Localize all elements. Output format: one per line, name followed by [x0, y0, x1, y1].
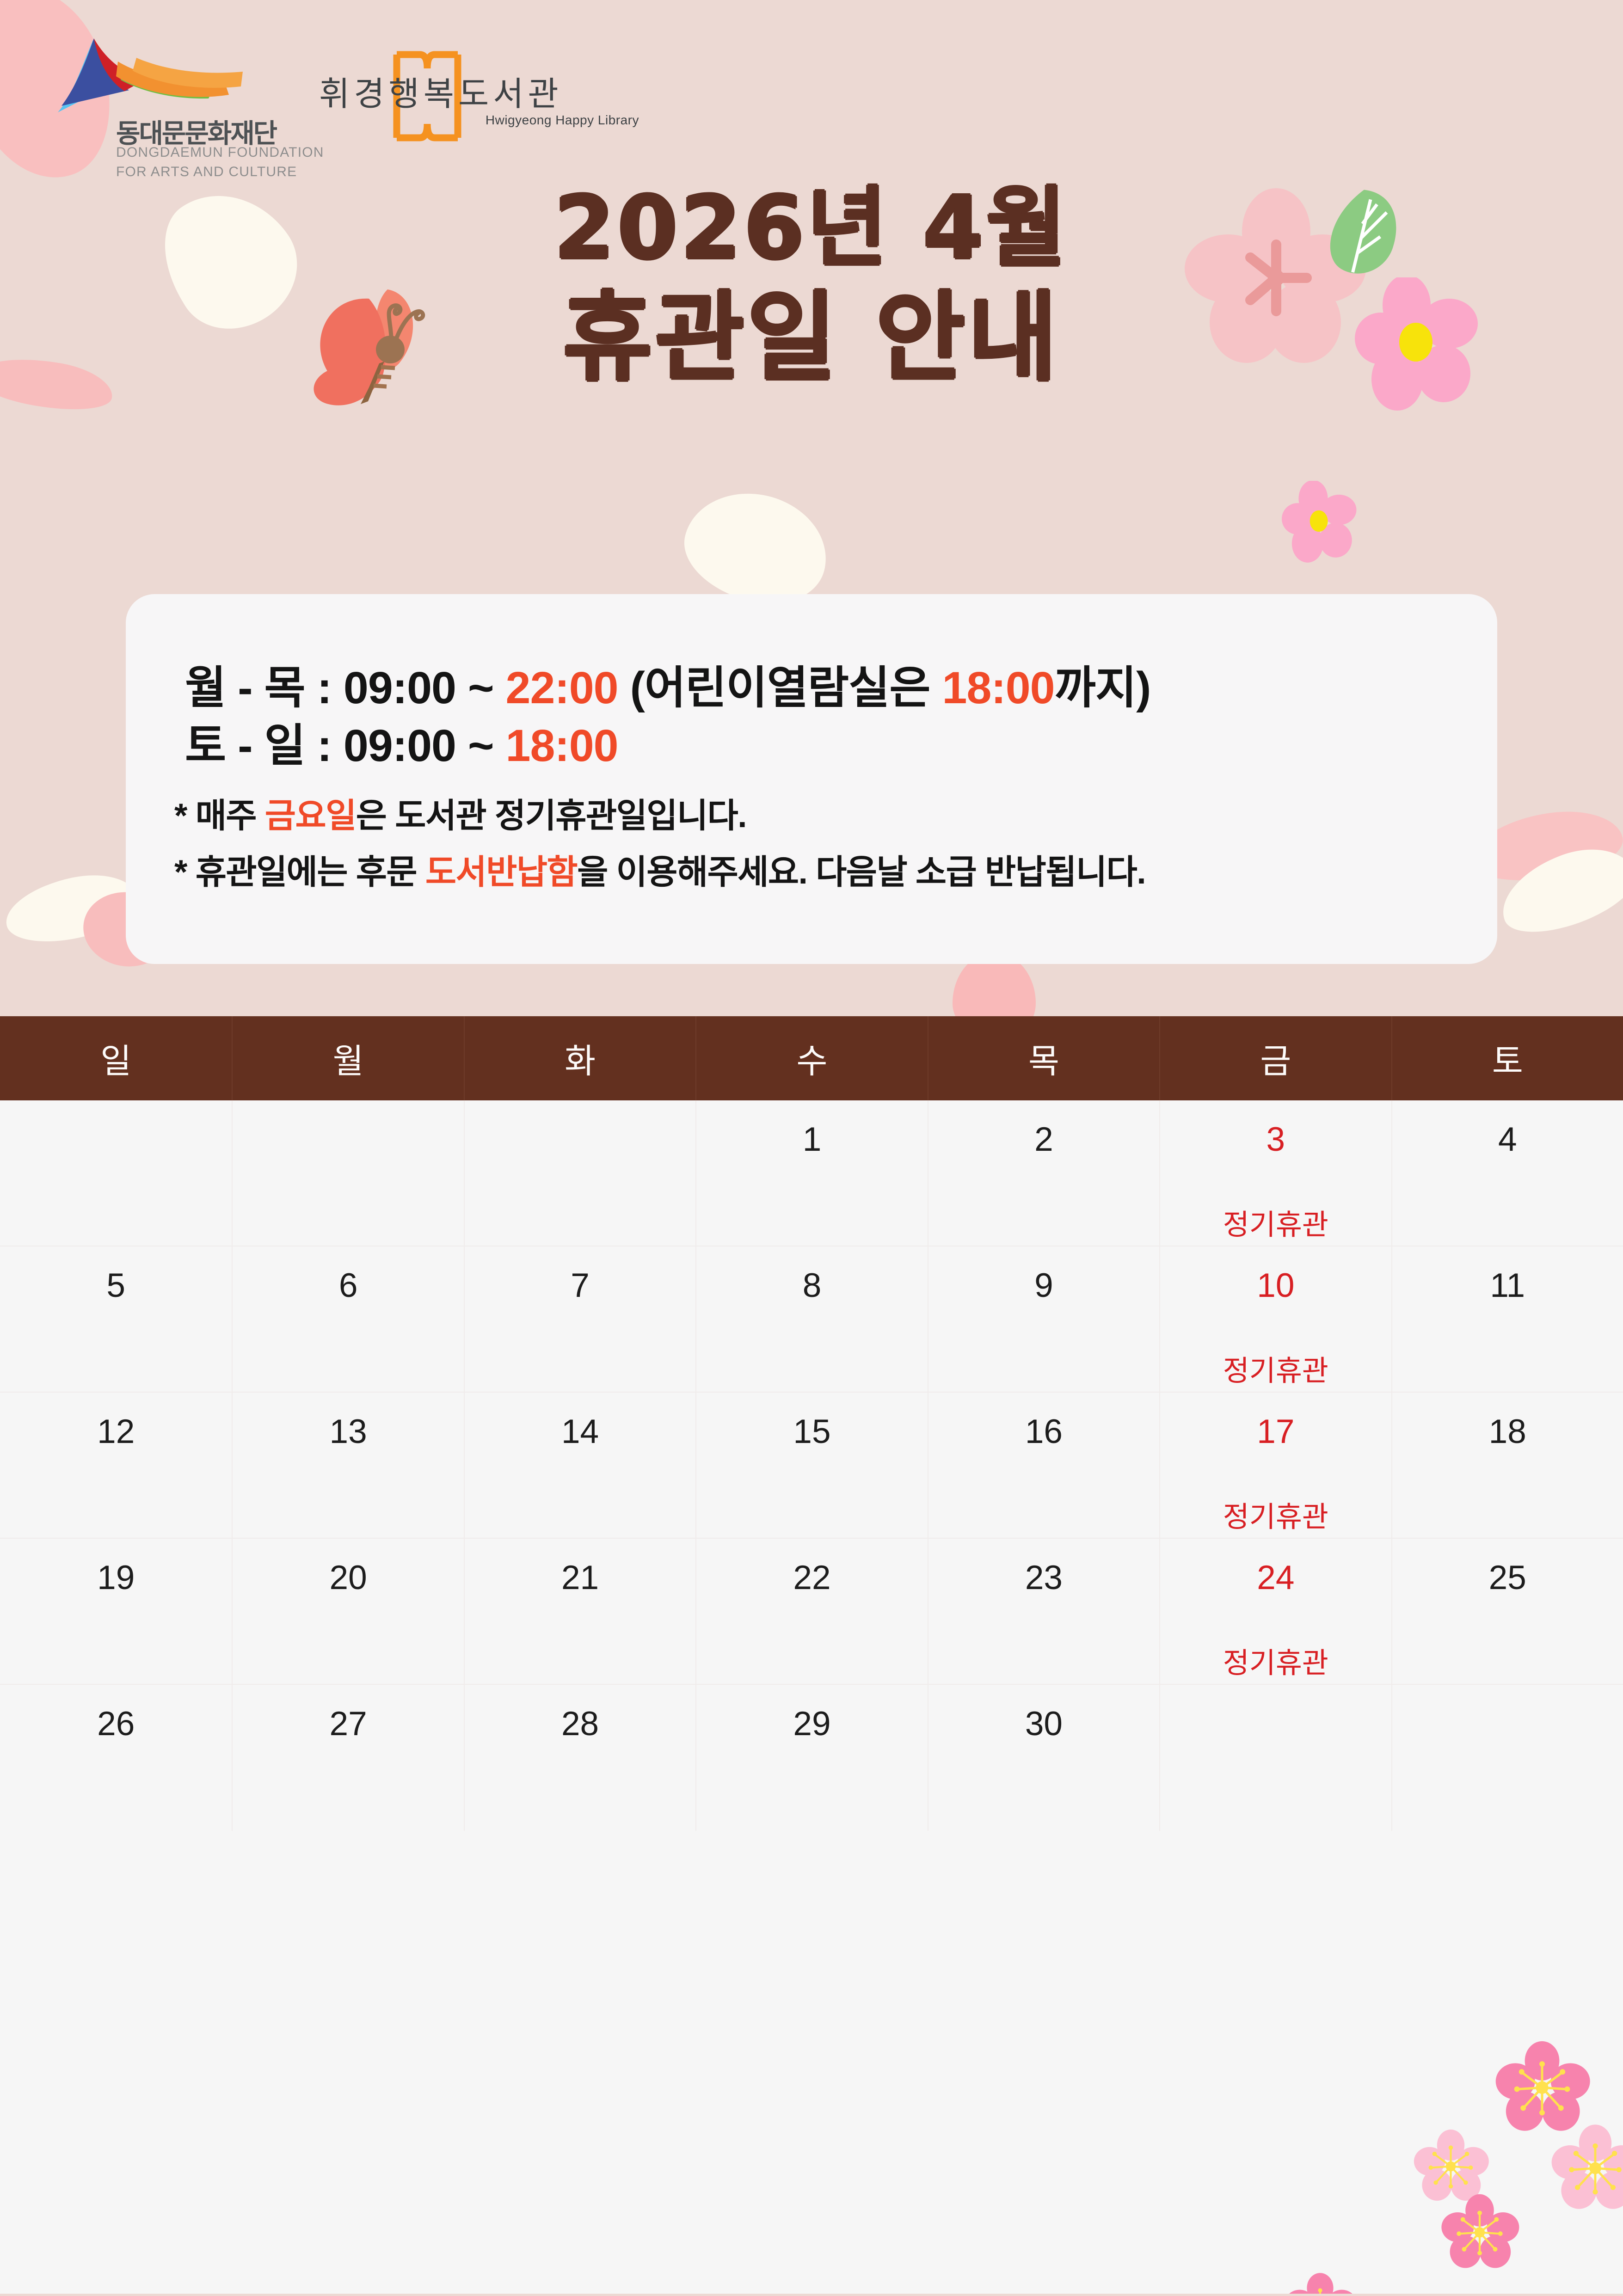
- calendar-day-cell[interactable]: 5: [0, 1246, 232, 1392]
- bottom-right-flower-cluster: [1151, 2030, 1623, 2294]
- calendar-day-cell[interactable]: 28: [464, 1685, 695, 1831]
- calendar-day-cell[interactable]: 8: [695, 1246, 927, 1392]
- calendar-date-number: 27: [330, 1707, 367, 1741]
- dongdaemun-foundation-logo: 동대문문화재단 DONGDAEMUN FOUNDATION FOR ARTS A…: [25, 12, 312, 183]
- calendar-date-number: 5: [106, 1269, 125, 1302]
- calendar-day-cell[interactable]: 9: [928, 1246, 1159, 1392]
- calendar-date-number: 28: [561, 1707, 599, 1741]
- plum-blossom-cluster-icon: [1151, 2030, 1623, 2294]
- calendar-date-number: 12: [97, 1415, 135, 1449]
- calendar-week-row: 123정기휴관4: [0, 1100, 1623, 1246]
- calendar-day-cell[interactable]: 29: [695, 1685, 927, 1831]
- calendar-closure-label: 정기휴관: [1160, 1347, 1391, 1389]
- calendar-date-number: 24: [1257, 1561, 1294, 1595]
- calendar-empty-cell: [1391, 1685, 1623, 1831]
- calendar-day-cell[interactable]: 12: [0, 1393, 232, 1538]
- calendar-day-cell[interactable]: 30: [928, 1685, 1159, 1831]
- calendar-day-cell[interactable]: 21: [464, 1539, 695, 1684]
- calendar-date-number: 18: [1489, 1415, 1526, 1449]
- calendar-date-number: 26: [97, 1707, 135, 1741]
- note-2-highlight: 도서반납함: [425, 853, 577, 891]
- calendar-day-cell[interactable]: 23: [928, 1539, 1159, 1684]
- hours-weekday-close-time: 22:00: [506, 663, 618, 713]
- calendar-empty-cell: [1159, 1685, 1391, 1831]
- hours-row-weekday: 월 - 목 : 09:00 ~ 22:00 (어린이열람실은 18:00까지): [185, 651, 1150, 716]
- calendar-empty-cell: [232, 1100, 463, 1246]
- calendar-day-cell[interactable]: 17정기휴관: [1159, 1393, 1391, 1538]
- note-book-drop: * 휴관일에는 후문 도서반납함을 이용해주세요. 다음날 소급 반납됩니다.: [174, 845, 1145, 894]
- calendar-closure-label: 정기휴관: [1160, 1639, 1391, 1681]
- calendar-week-row: 2627282930: [0, 1685, 1623, 1831]
- plum-blossom-icon: [1282, 481, 1360, 564]
- calendar-date-number: 1: [803, 1123, 822, 1156]
- calendar-weekday-header-0: 일: [0, 1016, 232, 1100]
- calendar-closure-label: 정기휴관: [1160, 1493, 1391, 1535]
- calendar-week-row: 5678910정기휴관11: [0, 1246, 1623, 1393]
- calendar-day-cell[interactable]: 18: [1391, 1393, 1623, 1538]
- calendar-day-cell[interactable]: 7: [464, 1246, 695, 1392]
- calendar-weekday-header-2: 화: [464, 1016, 695, 1100]
- calendar-date-number: 13: [330, 1415, 367, 1449]
- logo-bar: 동대문문화재단 DONGDAEMUN FOUNDATION FOR ARTS A…: [0, 0, 1623, 185]
- calendar-day-cell[interactable]: 14: [464, 1393, 695, 1538]
- page-title: 2026년 4월 휴관일 안내: [0, 185, 1623, 387]
- calendar-weekday-header-4: 목: [928, 1016, 1159, 1100]
- calendar-date-number: 8: [803, 1269, 822, 1302]
- calendar-date-number: 19: [97, 1561, 135, 1595]
- calendar-date-number: 29: [793, 1707, 830, 1741]
- calendar-date-number: 14: [561, 1415, 599, 1449]
- calendar-date-number: 23: [1025, 1561, 1063, 1595]
- calendar-closure-label: 정기휴관: [1160, 1201, 1391, 1243]
- calendar-date-number: 4: [1498, 1123, 1517, 1156]
- calendar-day-cell[interactable]: 20: [232, 1539, 463, 1684]
- foundation-mark-icon: [25, 12, 312, 118]
- note-1-highlight: 금요일: [265, 797, 356, 835]
- hours-weekday-days: 월 - 목 : 09:00 ~: [185, 663, 506, 713]
- butterfly-icon: [300, 276, 457, 437]
- calendar-day-cell[interactable]: 3정기휴관: [1159, 1100, 1391, 1246]
- calendar-weekday-header-5: 금: [1159, 1016, 1391, 1100]
- calendar-date-number: 9: [1034, 1269, 1053, 1302]
- hours-weekday-note-pre: (어린이열람실은: [618, 663, 942, 713]
- calendar-day-cell[interactable]: 27: [232, 1685, 463, 1831]
- foundation-name-en-line2: FOR ARTS AND CULTURE: [116, 164, 297, 180]
- hours-info-card: 월 - 목 : 09:00 ~ 22:00 (어린이열람실은 18:00까지) …: [126, 594, 1497, 964]
- calendar-week-row: 192021222324정기휴관25: [0, 1539, 1623, 1685]
- calendar-day-cell[interactable]: 16: [928, 1393, 1159, 1538]
- note-1-pre: * 매주: [174, 797, 265, 835]
- library-name-kr: 휘경행복도서관: [319, 67, 563, 115]
- hours-weekend-close-time: 18:00: [506, 720, 618, 771]
- note-2-pre: * 휴관일에는 후문: [174, 853, 425, 891]
- hours-weekday-note-post: 까지): [1055, 663, 1151, 713]
- calendar-day-cell[interactable]: 10정기휴관: [1159, 1246, 1391, 1392]
- hours-weekend-days: 토 - 일 : 09:00 ~: [185, 720, 506, 771]
- calendar-day-cell[interactable]: 19: [0, 1539, 232, 1684]
- calendar-date-number: 25: [1489, 1561, 1526, 1595]
- calendar-date-number: 7: [571, 1269, 590, 1302]
- calendar-day-cell[interactable]: 4: [1391, 1100, 1623, 1246]
- calendar-weekday-header-row: 일월화수목금토: [0, 1016, 1623, 1100]
- calendar-date-number: 20: [330, 1561, 367, 1595]
- calendar-empty-cell: [0, 1100, 232, 1246]
- hours-row-weekend: 토 - 일 : 09:00 ~ 18:00: [185, 709, 618, 774]
- note-regular-closure: * 매주 금요일은 도서관 정기휴관일입니다.: [174, 788, 746, 837]
- foundation-name-en-line1: DONGDAEMUN FOUNDATION: [116, 145, 324, 160]
- hwigyeong-library-logo: 휘경행복도서관 Hwigyeong Happy Library: [319, 52, 638, 144]
- calendar-day-cell[interactable]: 1: [695, 1100, 927, 1246]
- calendar-body: 123정기휴관45678910정기휴관11121314151617정기휴관181…: [0, 1100, 1623, 1831]
- library-name-en: Hwigyeong Happy Library: [486, 113, 639, 128]
- calendar-date-number: 10: [1257, 1269, 1294, 1302]
- calendar-date-number: 22: [793, 1561, 830, 1595]
- calendar-date-number: 16: [1025, 1415, 1063, 1449]
- calendar-week-row: 121314151617정기휴관18: [0, 1393, 1623, 1539]
- calendar-day-cell[interactable]: 2: [928, 1100, 1159, 1246]
- calendar-day-cell[interactable]: 25: [1391, 1539, 1623, 1684]
- calendar-date-number: 21: [561, 1561, 599, 1595]
- hours-weekday-child-room-time: 18:00: [942, 663, 1055, 713]
- calendar-weekday-header-3: 수: [695, 1016, 927, 1100]
- calendar-day-cell[interactable]: 6: [232, 1246, 463, 1392]
- calendar-day-cell[interactable]: 24정기휴관: [1159, 1539, 1391, 1684]
- calendar-day-cell[interactable]: 11: [1391, 1246, 1623, 1392]
- calendar-day-cell[interactable]: 15: [695, 1393, 927, 1538]
- calendar-empty-cell: [464, 1100, 695, 1246]
- calendar-date-number: 17: [1257, 1415, 1294, 1449]
- calendar-day-cell[interactable]: 13: [232, 1393, 463, 1538]
- calendar-day-cell[interactable]: 26: [0, 1685, 232, 1831]
- calendar-date-number: 6: [339, 1269, 358, 1302]
- calendar-date-number: 3: [1266, 1123, 1285, 1156]
- note-2-post: 을 이용해주세요. 다음날 소급 반납됩니다.: [577, 853, 1145, 891]
- title-line-year-month: 2026년 4월: [0, 185, 1623, 272]
- calendar-date-number: 15: [793, 1415, 830, 1449]
- calendar-weekday-header-6: 토: [1391, 1016, 1623, 1100]
- calendar-date-number: 11: [1490, 1269, 1525, 1302]
- title-line-subject: 휴관일 안내: [0, 289, 1623, 387]
- calendar-weekday-header-1: 월: [232, 1016, 463, 1100]
- calendar-date-number: 30: [1025, 1707, 1063, 1741]
- calendar-date-number: 2: [1034, 1123, 1053, 1156]
- calendar-day-cell[interactable]: 22: [695, 1539, 927, 1684]
- note-1-post: 은 도서관 정기휴관일입니다.: [356, 797, 746, 835]
